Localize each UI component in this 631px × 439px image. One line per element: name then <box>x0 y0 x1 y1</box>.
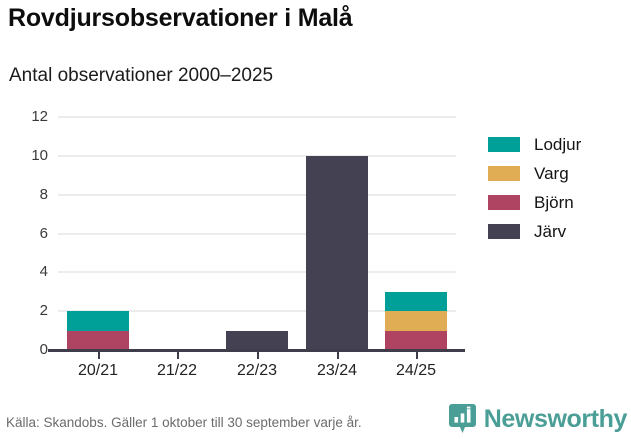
bar-segment-järv[interactable] <box>226 331 288 350</box>
x-tick <box>257 352 259 359</box>
legend-item-björn[interactable]: Björn <box>488 188 581 217</box>
page-title: Rovdjursobservationer i Malå <box>8 4 353 33</box>
bar-segment-lodjur[interactable] <box>67 311 129 330</box>
x-tick-label: 23/24 <box>317 362 357 380</box>
bar-segment-lodjur[interactable] <box>385 292 447 311</box>
x-tick-label: 22/23 <box>237 362 277 380</box>
y-tick-label: 10 <box>4 148 48 163</box>
brand-name: Newsworthy <box>484 405 627 434</box>
x-tick <box>337 352 339 359</box>
brand-logo: Newsworthy <box>449 404 627 435</box>
x-tick-label: 21/22 <box>157 362 197 380</box>
bar-group[interactable] <box>226 331 288 350</box>
y-axis: 024681012 <box>0 117 48 350</box>
plot-area <box>58 117 456 350</box>
y-tick-label: 12 <box>4 109 48 124</box>
legend: LodjurVargBjörnJärv <box>488 130 581 246</box>
legend-item-järv[interactable]: Järv <box>488 217 581 246</box>
y-tick-label: 6 <box>4 226 48 241</box>
gridline <box>58 194 456 196</box>
bar-group[interactable] <box>306 156 368 350</box>
legend-swatch <box>488 195 520 210</box>
gridline <box>58 155 456 157</box>
bar-group[interactable] <box>67 311 129 350</box>
x-tick-label: 20/21 <box>78 362 118 380</box>
x-tick <box>177 352 179 359</box>
gridline <box>58 271 456 273</box>
bar-segment-varg[interactable] <box>385 311 447 330</box>
x-tick <box>98 352 100 359</box>
source-note: Källa: Skandobs. Gäller 1 oktober till 3… <box>6 415 362 430</box>
legend-swatch <box>488 166 520 181</box>
legend-item-varg[interactable]: Varg <box>488 159 581 188</box>
legend-label: Lodjur <box>534 135 581 155</box>
legend-item-lodjur[interactable]: Lodjur <box>488 130 581 159</box>
gridline <box>58 233 456 235</box>
y-tick-label: 4 <box>4 264 48 279</box>
gridline <box>58 116 456 118</box>
legend-swatch <box>488 137 520 152</box>
x-tick <box>416 352 418 359</box>
y-tick-label: 2 <box>4 303 48 318</box>
legend-label: Järv <box>534 222 566 242</box>
chart-subtitle: Antal observationer 2000–2025 <box>9 65 273 87</box>
bar-segment-björn[interactable] <box>67 331 129 350</box>
legend-label: Björn <box>534 193 574 213</box>
bar-segment-järv[interactable] <box>306 156 368 350</box>
bar-chart-bubble-icon <box>449 404 476 435</box>
y-tick-label: 0 <box>4 342 48 357</box>
legend-label: Varg <box>534 164 569 184</box>
y-tick-label: 8 <box>4 187 48 202</box>
x-tick-label: 24/25 <box>396 362 436 380</box>
legend-swatch <box>488 224 520 239</box>
bar-segment-björn[interactable] <box>385 331 447 350</box>
bar-group[interactable] <box>385 292 447 350</box>
